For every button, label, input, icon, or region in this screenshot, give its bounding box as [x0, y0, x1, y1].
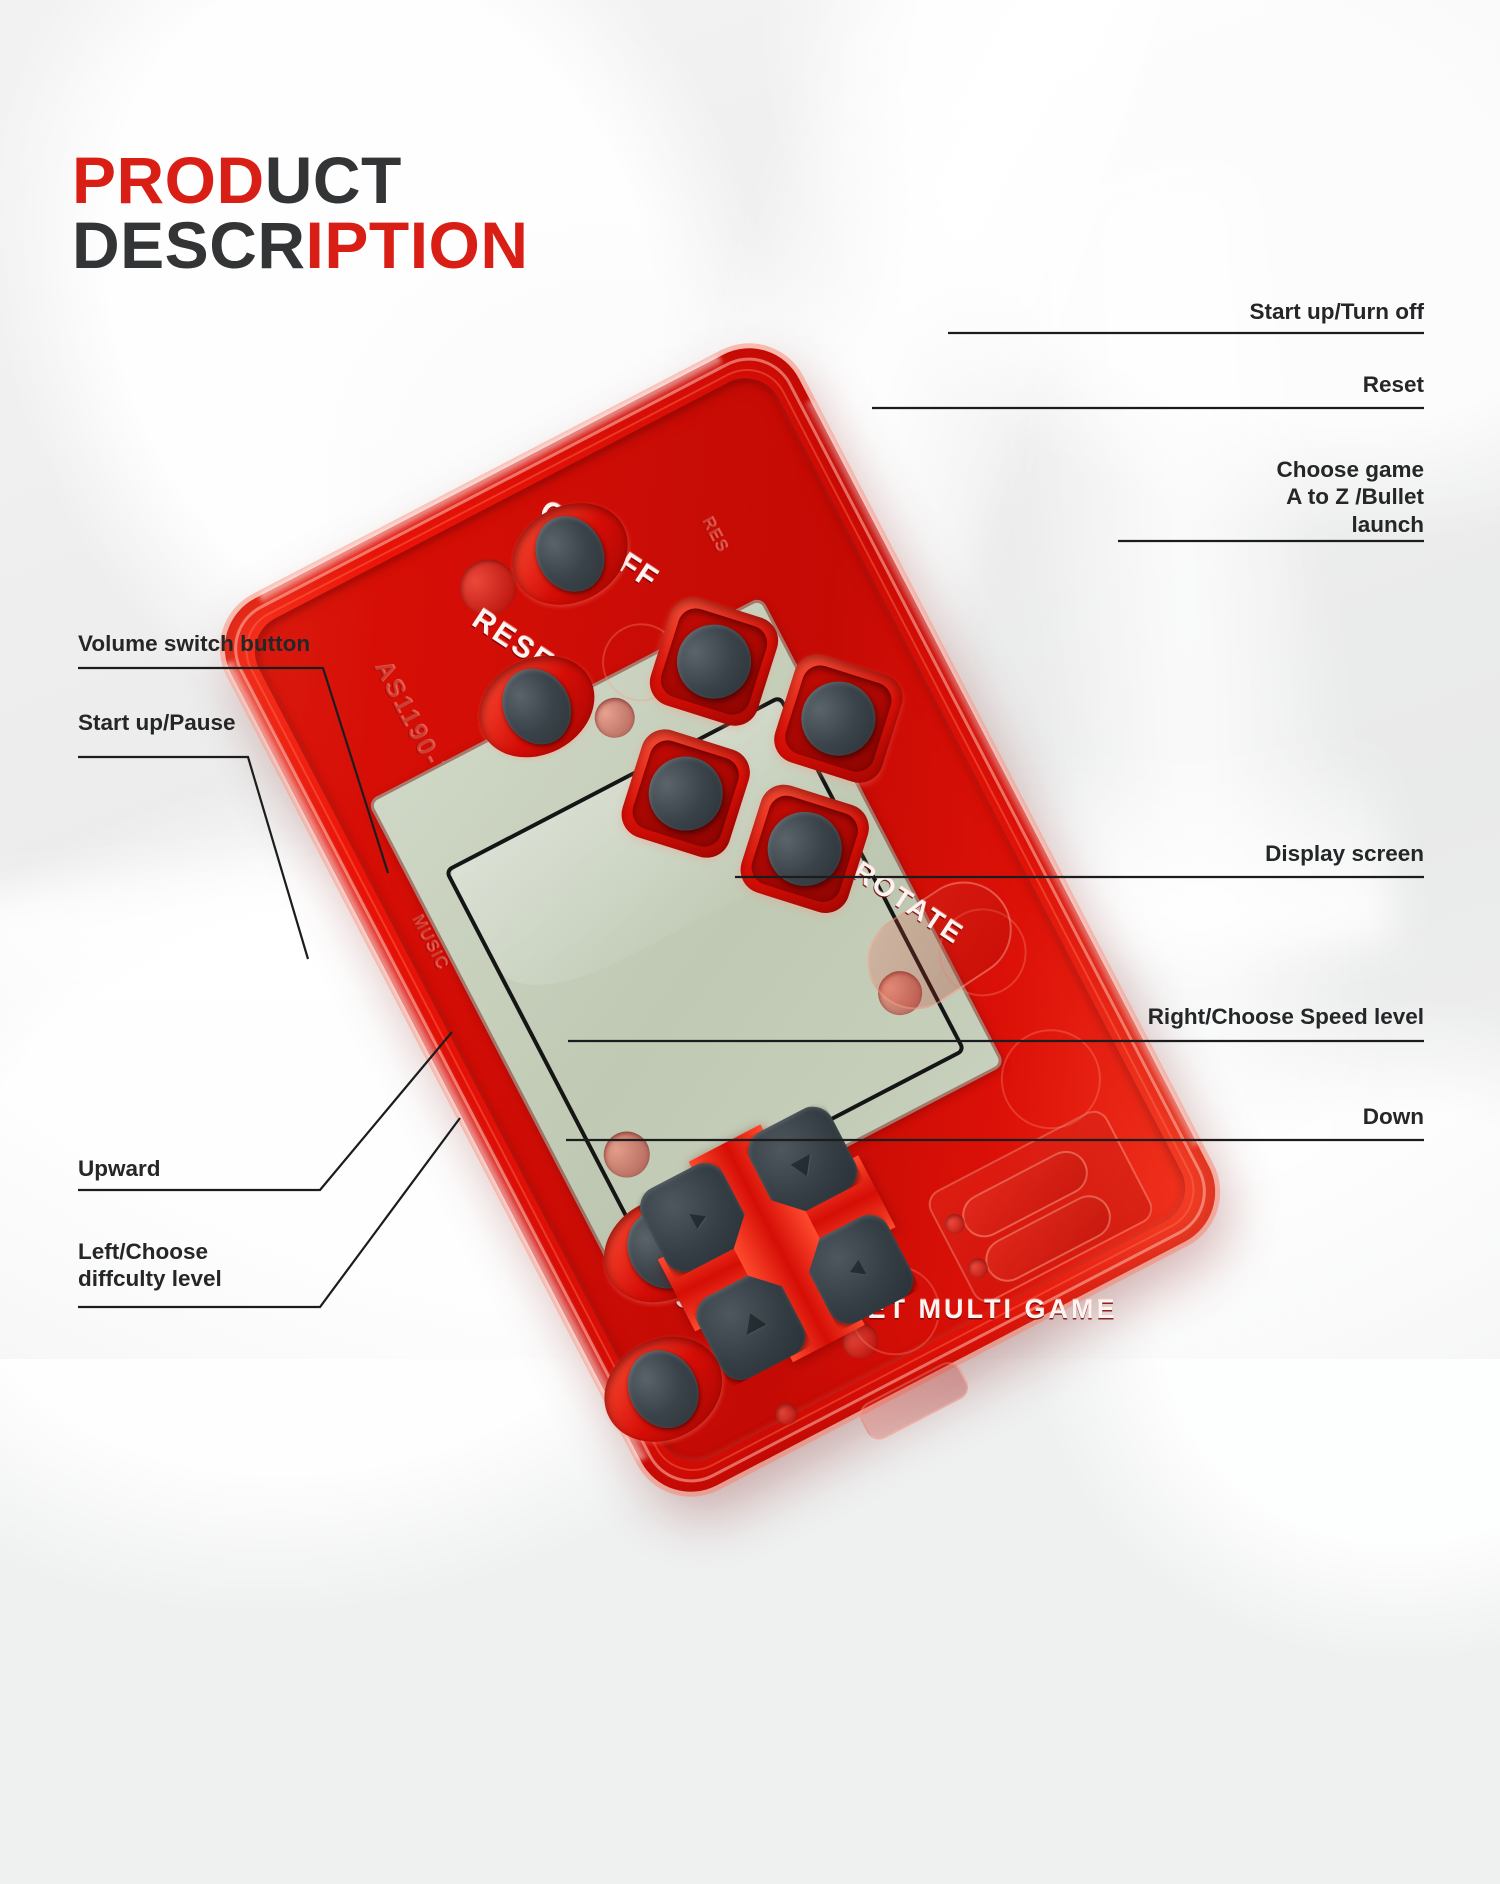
callout-start-up-turn-off: Start up/Turn off — [1249, 298, 1424, 325]
res-engraving: RES — [697, 514, 732, 557]
callout-right-choose-speed-level: Right/Choose Speed level — [1148, 1003, 1424, 1030]
power-button-well[interactable] — [495, 484, 646, 625]
callout-down: Down — [1363, 1103, 1424, 1130]
product-photo: AS1190-7012 RES MUSIC — [205, 225, 1335, 1350]
callout-upward: Upward — [78, 1155, 161, 1182]
arrow-right-icon: ▶ — [786, 1145, 819, 1176]
callout-volume-switch-button: Volume switch button — [78, 630, 310, 657]
callout-left-choose-difficulty-level: Left/Choose diffculty level — [78, 1238, 222, 1293]
infographic-canvas: PRODUCT DESCRIPTION AS1190-7012 RES MUSI… — [0, 0, 1500, 1359]
callout-start-up-pause: Start up/Pause — [78, 709, 236, 736]
callout-choose-game: Choose game A to Z /Bullet launch — [1276, 456, 1424, 538]
internal-hole-3 — [772, 1399, 802, 1429]
handheld-console-body: AS1190-7012 RES MUSIC — [205, 329, 1234, 1512]
power-button[interactable] — [523, 504, 618, 604]
callout-reset: Reset — [1363, 371, 1424, 398]
bottom-slot — [855, 1357, 973, 1444]
start-pause-button[interactable] — [615, 1338, 712, 1440]
page-title-part-1: PROD — [72, 143, 265, 217]
arrow-down-icon: ▼ — [841, 1251, 877, 1287]
arrow-up-icon: ▲ — [676, 1199, 712, 1235]
arrow-left-icon: ◀ — [734, 1310, 767, 1341]
callout-display-screen: Display screen — [1265, 840, 1424, 867]
page-title-part-2: UCT — [265, 143, 402, 217]
reset-button[interactable] — [489, 657, 584, 757]
